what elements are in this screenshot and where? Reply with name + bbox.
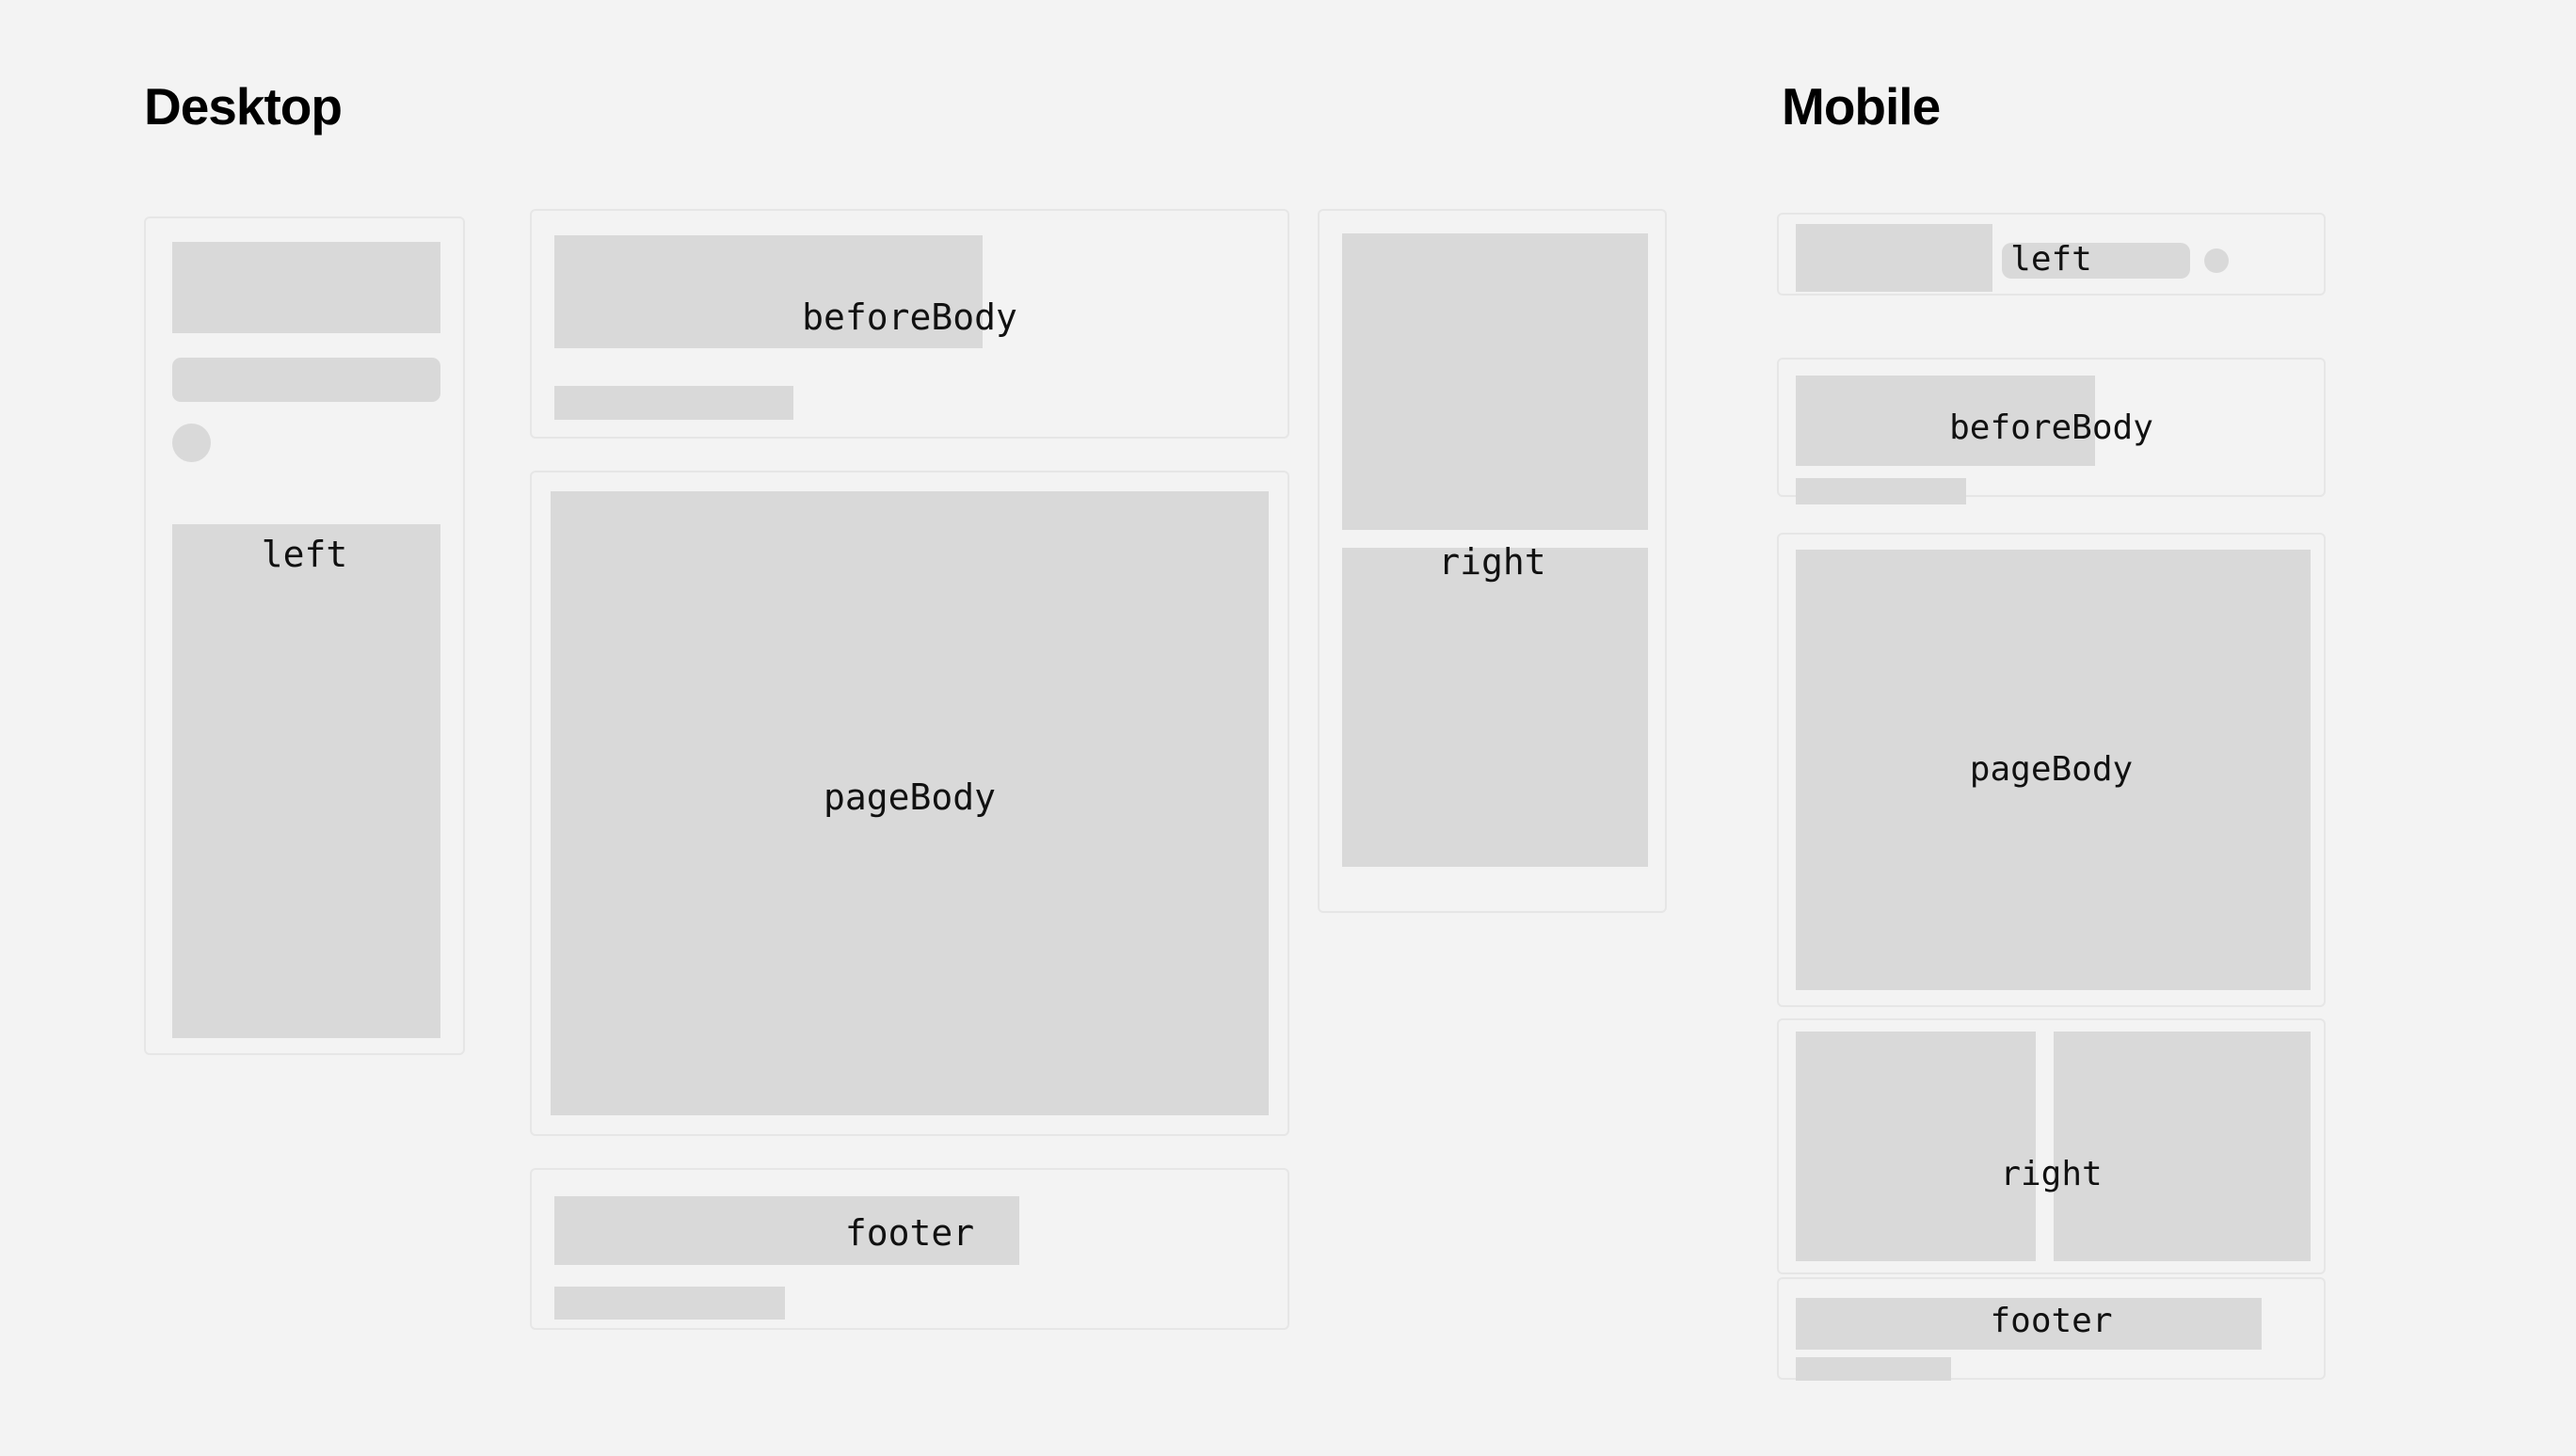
skeleton-panel [1796, 1032, 2036, 1261]
desktop-section-title: Desktop [144, 81, 342, 133]
desktop-right-slot-card[interactable] [1318, 209, 1667, 913]
mobile-right-slot-card[interactable] [1777, 1018, 2326, 1274]
skeleton-avatar-circle [172, 424, 211, 462]
mobile-beforebody-slot-card[interactable] [1777, 358, 2326, 497]
skeleton-panel [2054, 1032, 2311, 1261]
skeleton-avatar-circle [2204, 248, 2229, 273]
skeleton-panel [1342, 548, 1648, 867]
skeleton-block [1796, 376, 2095, 466]
skeleton-bar [172, 358, 440, 402]
skeleton-bar [554, 386, 793, 420]
skeleton-bar [554, 1287, 785, 1320]
mobile-left-slot-card[interactable] [1777, 213, 2326, 296]
layout-preview-stage: Desktop left beforeBody pageBody right f… [0, 0, 2576, 1456]
skeleton-bar [1796, 1357, 1951, 1381]
skeleton-block [554, 235, 983, 348]
skeleton-bar [2002, 243, 2190, 279]
skeleton-block [554, 1196, 1019, 1265]
skeleton-bar [1796, 478, 1966, 504]
skeleton-panel [1342, 233, 1648, 530]
desktop-left-slot-card[interactable] [144, 216, 465, 1055]
mobile-footer-slot-card[interactable] [1777, 1277, 2326, 1380]
mobile-section-title: Mobile [1782, 81, 1940, 133]
skeleton-block [1796, 224, 1992, 292]
skeleton-block [172, 242, 440, 333]
skeleton-panel [1796, 550, 2311, 990]
desktop-pagebody-slot-card[interactable] [530, 471, 1289, 1136]
desktop-footer-slot-card[interactable] [530, 1168, 1289, 1330]
skeleton-panel [172, 524, 440, 1038]
mobile-pagebody-slot-card[interactable] [1777, 533, 2326, 1007]
skeleton-panel [551, 491, 1269, 1115]
skeleton-block [1796, 1298, 2262, 1350]
desktop-beforebody-slot-card[interactable] [530, 209, 1289, 439]
